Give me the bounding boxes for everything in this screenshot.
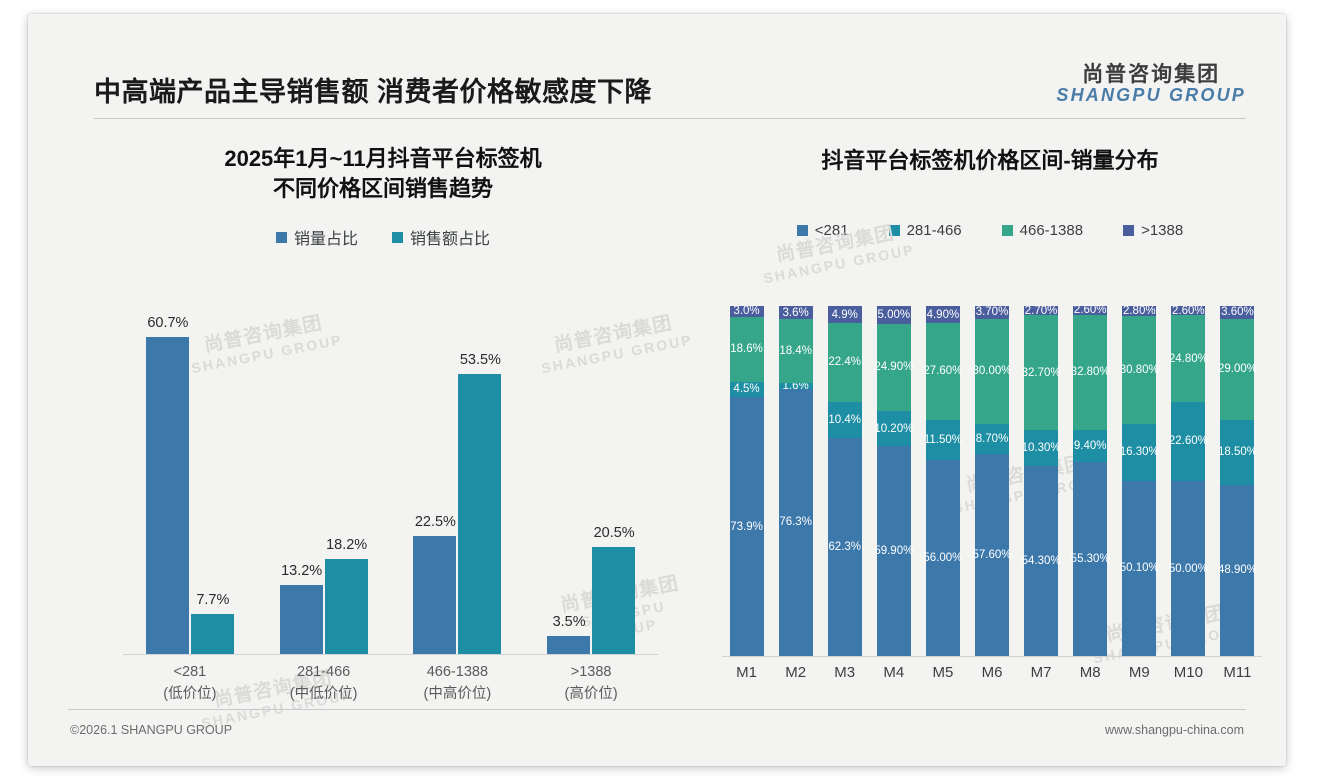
stacked-bar-segment[interactable]: 18.6%	[730, 317, 764, 382]
stacked-bar[interactable]: 50.10%16.30%30.80%2.80%	[1122, 306, 1156, 656]
legend-label: >1388	[1141, 222, 1183, 239]
x-tick-label: 466-1388(中高价位)	[382, 662, 532, 706]
segment-value-label: 32.80%	[1071, 366, 1110, 378]
segment-value-label: 50.00%	[1169, 563, 1208, 575]
stacked-bar-segment[interactable]: 55.30%	[1073, 462, 1107, 656]
stacked-bar-segment[interactable]: 59.90%	[877, 446, 911, 656]
segment-value-label: 32.70%	[1022, 367, 1061, 379]
panel-volume-distribution: 抖音平台标签机价格区间-销量分布 <281 281-466 466-1388 >…	[700, 134, 1280, 704]
bar[interactable]: 13.2%	[280, 309, 323, 654]
legend-label: <281	[815, 222, 849, 239]
left-chart-title: 2025年1月~11月抖音平台标签机 不同价格区间销售趋势	[68, 134, 698, 203]
stacked-bar-segment[interactable]: 4.9%	[828, 306, 862, 323]
right-chart-x-axis	[722, 656, 1262, 657]
brand-logo: 尚普咨询集团 SHANGPU GROUP	[1056, 64, 1246, 105]
x-tick-label: <281(低价位)	[115, 662, 265, 706]
stacked-bar[interactable]: 73.9%4.5%18.6%3.0%	[730, 306, 764, 656]
segment-value-label: 4.9%	[832, 309, 858, 321]
stacked-bar-segment[interactable]: 3.70%	[975, 306, 1009, 319]
stacked-bar-segment[interactable]: 76.3%	[779, 389, 813, 656]
left-chart-title-line2: 不同价格区间销售趋势	[68, 174, 698, 204]
stacked-bar[interactable]: 76.3%1.6%18.4%3.6%	[779, 306, 813, 656]
stacked-bar-segment[interactable]: 56.00%	[926, 460, 960, 656]
legend-item-band-over-1388[interactable]: >1388	[1123, 222, 1183, 239]
segment-value-label: 22.4%	[828, 356, 861, 368]
stacked-bar-segment[interactable]: 16.30%	[1122, 424, 1156, 481]
stacked-bar-segment[interactable]: 24.80%	[1171, 315, 1205, 402]
x-tick-label-main: >1388	[571, 664, 612, 680]
stacked-bar-segment[interactable]: 54.30%	[1024, 466, 1058, 656]
stacked-bar[interactable]: 62.3%10.4%22.4%4.9%	[828, 306, 862, 656]
stacked-bar-segment[interactable]: 2.80%	[1122, 306, 1156, 316]
segment-value-label: 30.00%	[973, 365, 1012, 377]
segment-value-label: 22.60%	[1169, 435, 1208, 447]
segment-value-label: 4.90%	[927, 309, 960, 321]
segment-value-label: 18.50%	[1218, 446, 1257, 458]
x-tick-label-main: 466-1388	[427, 664, 488, 680]
stacked-bar-segment[interactable]: 62.3%	[828, 438, 862, 656]
legend-label: 281-466	[907, 222, 962, 239]
stacked-bar-segment[interactable]: 30.80%	[1122, 316, 1156, 424]
stacked-bar-segment[interactable]: 22.4%	[828, 323, 862, 401]
bar-group: 60.7%7.7%	[123, 309, 257, 654]
stacked-bar-segment[interactable]: 27.60%	[926, 323, 960, 420]
right-chart-title: 抖音平台标签机价格区间-销量分布	[700, 134, 1280, 176]
stacked-bar-segment[interactable]: 18.4%	[779, 319, 813, 383]
segment-value-label: 55.30%	[1071, 553, 1110, 565]
legend-swatch-icon	[1123, 225, 1134, 236]
segment-value-label: 8.70%	[976, 433, 1009, 445]
bar[interactable]: 53.5%	[458, 309, 501, 654]
bar-fill	[458, 374, 501, 654]
right-chart-legend: <281 281-466 466-1388 >1388	[700, 222, 1280, 239]
left-chart-x-axis	[123, 654, 658, 655]
x-tick-label-main: 281-466	[297, 664, 350, 680]
stacked-bar-segment[interactable]: 5.00%	[877, 306, 911, 324]
bar-fill	[413, 536, 456, 654]
bar-group: 22.5%53.5%	[391, 309, 525, 654]
bar-fill	[592, 547, 635, 654]
segment-value-label: 30.80%	[1120, 364, 1159, 376]
logo-text-cn: 尚普咨询集团	[1056, 64, 1246, 86]
x-tick-label-sub: (中高价位)	[382, 684, 532, 706]
stacked-bar-segment[interactable]: 3.60%	[1220, 306, 1254, 319]
stacked-bar-segment[interactable]: 2.60%	[1171, 306, 1205, 315]
bar-value-label: 7.7%	[178, 592, 248, 608]
legend-item-sales-volume-share[interactable]: 销量占比	[276, 225, 358, 249]
stacked-bar-segment[interactable]: 4.5%	[730, 382, 764, 398]
legend-item-sales-amount-share[interactable]: 销售额占比	[392, 225, 490, 249]
x-tick-label: >1388(高价位)	[516, 662, 666, 706]
segment-value-label: 2.60%	[1074, 304, 1107, 316]
segment-value-label: 3.60%	[1221, 306, 1254, 318]
stacked-bar[interactable]: 50.00%22.60%24.80%2.60%	[1171, 306, 1205, 656]
bar-group: 13.2%18.2%	[257, 309, 391, 654]
slide-canvas: 中高端产品主导销售额 消费者价格敏感度下降 尚普咨询集团 SHANGPU GRO…	[28, 14, 1286, 766]
stacked-bar-segment[interactable]: 2.70%	[1024, 306, 1058, 315]
bar[interactable]: 7.7%	[191, 309, 234, 654]
legend-item-band-466-1388[interactable]: 466-1388	[1002, 222, 1083, 239]
stacked-bar[interactable]: 57.60%8.70%30.00%3.70%	[975, 306, 1009, 656]
segment-value-label: 2.80%	[1123, 305, 1156, 317]
legend-item-band-under-281[interactable]: <281	[797, 222, 849, 239]
bar-fill	[325, 559, 368, 654]
legend-swatch-icon	[276, 232, 287, 243]
stacked-bar-segment[interactable]: 4.90%	[926, 306, 960, 323]
stacked-bar[interactable]: 55.30%9.40%32.80%2.60%	[1073, 306, 1107, 656]
segment-value-label: 10.20%	[874, 423, 913, 435]
bar-value-label: 20.5%	[579, 525, 649, 541]
stacked-bar[interactable]: 48.90%18.50%29.00%3.60%	[1220, 306, 1254, 656]
legend-item-band-281-466[interactable]: 281-466	[889, 222, 962, 239]
stacked-bar-segment[interactable]: 24.90%	[877, 324, 911, 411]
stacked-bar-segment[interactable]: 29.00%	[1220, 319, 1254, 421]
segment-value-label: 62.3%	[828, 541, 861, 553]
segment-value-label: 2.70%	[1025, 305, 1058, 317]
stacked-bar-segment[interactable]: 8.70%	[975, 424, 1009, 454]
bar-fill	[191, 614, 234, 654]
segment-value-label: 57.60%	[973, 549, 1012, 561]
bar[interactable]: 3.5%	[547, 309, 590, 654]
segment-value-label: 10.4%	[828, 414, 861, 426]
stacked-bar-segment[interactable]: 32.70%	[1024, 315, 1058, 429]
stacked-bar-segment[interactable]: 10.30%	[1024, 430, 1058, 466]
slide-header: 中高端产品主导销售额 消费者价格敏感度下降 尚普咨询集团 SHANGPU GRO…	[28, 14, 1286, 118]
stacked-bar-segment[interactable]: 11.50%	[926, 420, 960, 460]
stacked-bar-segment[interactable]: 48.90%	[1220, 485, 1254, 656]
segment-value-label: 2.60%	[1172, 305, 1205, 317]
stacked-bar-segment[interactable]: 2.60%	[1073, 306, 1107, 315]
bar[interactable]: 20.5%	[592, 309, 635, 654]
segment-value-label: 3.0%	[733, 305, 759, 317]
legend-label: 销售额占比	[410, 225, 490, 249]
footer-website[interactable]: www.shangpu-china.com	[1105, 723, 1244, 737]
x-tick-label-sub: (中低价位)	[249, 684, 399, 706]
panel-sales-trend: 2025年1月~11月抖音平台标签机 不同价格区间销售趋势 销量占比 销售额占比…	[68, 134, 698, 704]
stacked-bar-segment[interactable]: 73.9%	[730, 397, 764, 656]
segment-value-label: 18.6%	[730, 343, 763, 355]
bar-group: 3.5%20.5%	[524, 309, 658, 654]
segment-value-label: 9.40%	[1074, 440, 1107, 452]
segment-value-label: 48.90%	[1218, 564, 1257, 576]
segment-value-label: 18.4%	[779, 345, 812, 357]
stacked-bar-plot-area: 73.9%4.5%18.6%3.0%76.3%1.6%18.4%3.6%62.3…	[722, 306, 1262, 656]
right-chart-x-tick-labels: M1M2M3M4M5M6M7M8M9M10M11	[722, 664, 1262, 694]
watermark-line2: SHANGPU GROUP	[762, 241, 916, 286]
left-chart-legend: 销量占比 销售额占比	[68, 225, 698, 249]
segment-value-label: 3.6%	[783, 307, 809, 319]
stacked-bar-segment[interactable]: 3.6%	[779, 306, 813, 319]
segment-value-label: 4.5%	[733, 383, 759, 395]
segment-value-label: 3.70%	[976, 306, 1009, 318]
segment-value-label: 56.00%	[923, 552, 962, 564]
segment-value-label: 5.00%	[878, 309, 911, 321]
legend-swatch-icon	[1002, 225, 1013, 236]
footer-divider	[68, 709, 1246, 710]
stacked-bar-segment[interactable]: 3.0%	[730, 306, 764, 317]
bar[interactable]: 18.2%	[325, 309, 368, 654]
page-title: 中高端产品主导销售额 消费者价格敏感度下降	[94, 70, 652, 109]
stacked-bar-segment[interactable]: 10.20%	[877, 411, 911, 447]
segment-value-label: 29.00%	[1218, 363, 1257, 375]
stacked-bar-segment[interactable]: 50.10%	[1122, 481, 1156, 656]
segment-value-label: 27.60%	[923, 365, 962, 377]
bar-fill	[547, 636, 590, 654]
x-tick-label: 281-466(中低价位)	[249, 662, 399, 706]
legend-swatch-icon	[797, 225, 808, 236]
bar-fill	[280, 585, 323, 654]
x-tick-label-sub: (低价位)	[115, 684, 265, 706]
bar-value-label: 53.5%	[445, 352, 515, 368]
stacked-bar-segment[interactable]: 32.80%	[1073, 315, 1107, 430]
segment-value-label: 59.90%	[874, 545, 913, 557]
x-tick-label: M11	[1207, 664, 1267, 681]
legend-label: 466-1388	[1020, 222, 1083, 239]
bar-value-label: 18.2%	[312, 537, 382, 553]
header-divider	[94, 118, 1246, 119]
x-tick-label-main: <281	[174, 664, 207, 680]
stacked-bar-segment[interactable]: 1.6%	[779, 383, 813, 389]
stacked-bar-segment[interactable]: 57.60%	[975, 454, 1009, 656]
logo-text-en: SHANGPU GROUP	[1056, 86, 1246, 105]
legend-label: 销量占比	[294, 225, 358, 249]
stacked-bar-segment[interactable]: 22.60%	[1171, 402, 1205, 481]
segment-value-label: 50.10%	[1120, 562, 1159, 574]
stacked-bar[interactable]: 59.90%10.20%24.90%5.00%	[877, 306, 911, 656]
legend-swatch-icon	[392, 232, 403, 243]
stacked-bar-segment[interactable]: 18.50%	[1220, 420, 1254, 485]
footer-copyright: ©2026.1 SHANGPU GROUP	[70, 723, 232, 737]
legend-swatch-icon	[889, 225, 900, 236]
segment-value-label: 76.3%	[779, 516, 812, 528]
x-tick-label-sub: (高价位)	[516, 684, 666, 706]
segment-value-label: 73.9%	[730, 521, 763, 533]
stacked-bar-segment[interactable]: 30.00%	[975, 319, 1009, 424]
segment-value-label: 11.50%	[924, 434, 962, 446]
segment-value-label: 10.30%	[1022, 442, 1061, 454]
stacked-bar[interactable]: 56.00%11.50%27.60%4.90%	[926, 306, 960, 656]
stacked-bar-segment[interactable]: 50.00%	[1171, 481, 1205, 656]
stacked-bar-segment[interactable]: 9.40%	[1073, 430, 1107, 463]
segment-value-label: 16.30%	[1120, 446, 1159, 458]
segment-value-label: 24.90%	[874, 361, 913, 373]
segment-value-label: 24.80%	[1169, 353, 1208, 365]
segment-value-label: 54.30%	[1022, 555, 1061, 567]
grouped-bar-plot-area: 60.7%7.7%13.2%18.2%22.5%53.5%3.5%20.5%	[123, 309, 658, 654]
stacked-bar[interactable]: 54.30%10.30%32.70%2.70%	[1024, 306, 1058, 656]
stacked-bar-segment[interactable]: 10.4%	[828, 402, 862, 438]
left-chart-title-line1: 2025年1月~11月抖音平台标签机	[68, 144, 698, 174]
